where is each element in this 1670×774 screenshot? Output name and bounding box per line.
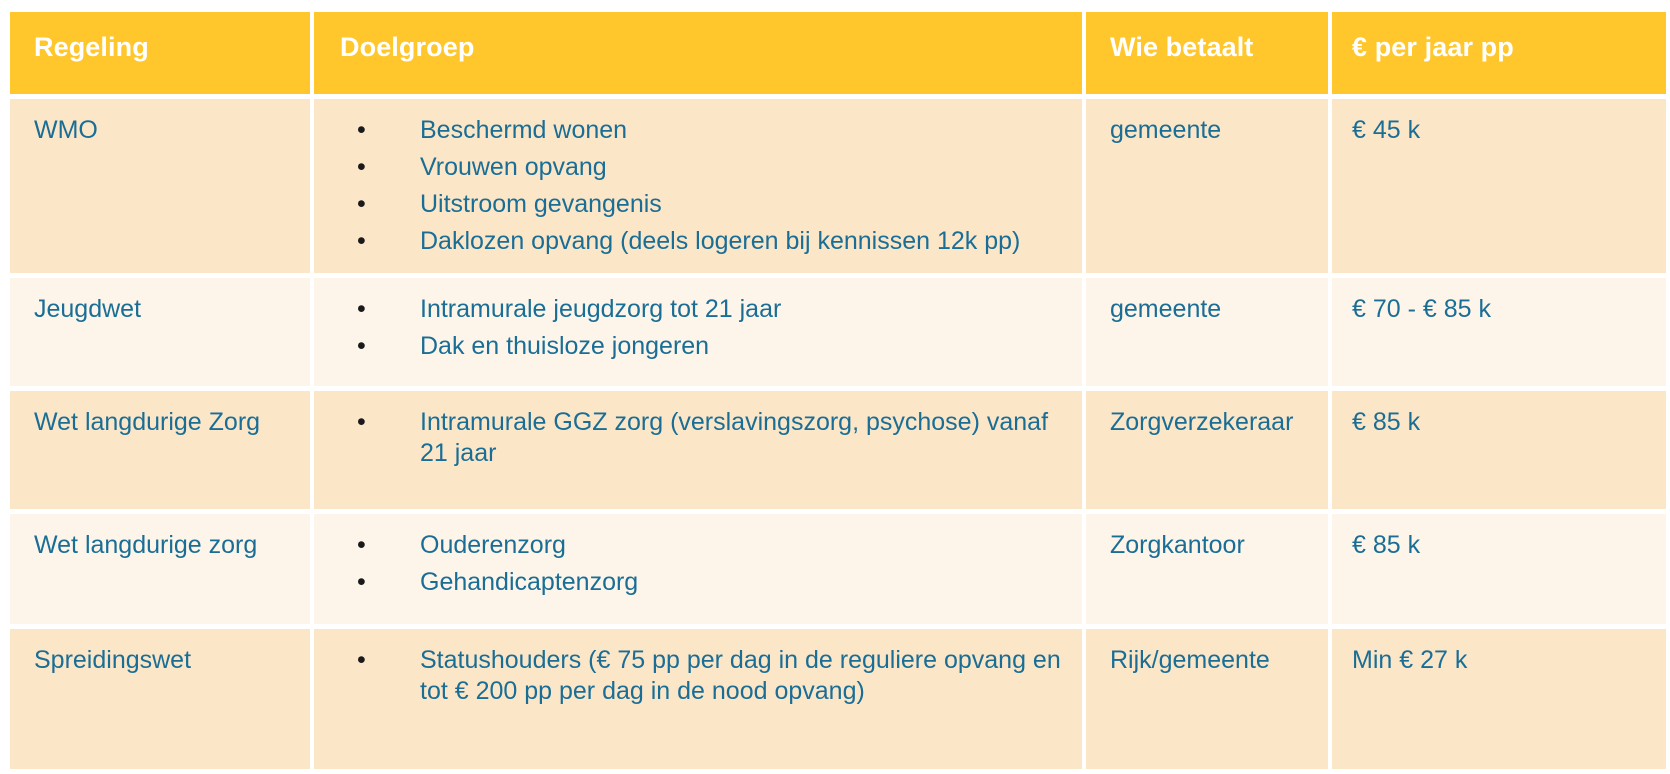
cell-regeling: Jeugdwet bbox=[10, 278, 310, 386]
table-row: Spreidingswet •Statushouders (€ 75 pp pe… bbox=[10, 629, 1666, 769]
regeling-label: WMO bbox=[34, 115, 300, 146]
column-header-wie-betaalt: Wie betaalt bbox=[1086, 12, 1328, 94]
cell-regeling: Wet langdurige Zorg bbox=[10, 391, 310, 509]
doelgroep-list: •Statushouders (€ 75 pp per dag in de re… bbox=[340, 645, 1068, 707]
regelingen-table: Regeling Doelgroep Wie betaalt € per jaa… bbox=[6, 7, 1670, 774]
table-body: WMO •Beschermd wonen •Vrouwen opvang •Ui… bbox=[10, 99, 1666, 769]
regeling-label: Spreidingswet bbox=[34, 645, 300, 676]
bullet-icon: • bbox=[357, 331, 366, 362]
wie-betaalt-label: gemeente bbox=[1110, 115, 1318, 146]
column-header-bedrag: € per jaar pp bbox=[1332, 12, 1666, 94]
column-header-doelgroep: Doelgroep bbox=[314, 12, 1082, 94]
list-item: •Dak en thuisloze jongeren bbox=[340, 331, 1068, 362]
list-item-label: Intramurale GGZ zorg (verslavingszorg, p… bbox=[420, 408, 1048, 467]
bullet-icon: • bbox=[357, 115, 366, 146]
cell-bedrag: € 85 k bbox=[1332, 514, 1666, 624]
list-item: •Intramurale jeugdzorg tot 21 jaar bbox=[340, 294, 1068, 325]
list-item-label: Dak en thuisloze jongeren bbox=[420, 332, 709, 360]
list-item-label: Ouderenzorg bbox=[420, 531, 566, 559]
doelgroep-list: •Intramurale GGZ zorg (verslavingszorg, … bbox=[340, 407, 1068, 469]
bullet-icon: • bbox=[357, 645, 366, 676]
doelgroep-list: •Beschermd wonen •Vrouwen opvang •Uitstr… bbox=[340, 115, 1068, 257]
cell-wie-betaalt: Rijk/gemeente bbox=[1086, 629, 1328, 769]
list-item-label: Statushouders (€ 75 pp per dag in de reg… bbox=[420, 646, 1061, 705]
list-item-label: Vrouwen opvang bbox=[420, 153, 607, 181]
list-item: •Beschermd wonen bbox=[340, 115, 1068, 146]
wie-betaalt-label: gemeente bbox=[1110, 294, 1318, 325]
bullet-icon: • bbox=[357, 152, 366, 183]
list-item: •Intramurale GGZ zorg (verslavingszorg, … bbox=[340, 407, 1068, 469]
list-item-label: Intramurale jeugdzorg tot 21 jaar bbox=[420, 295, 781, 323]
list-item: •Uitstroom gevangenis bbox=[340, 189, 1068, 220]
cell-wie-betaalt: Zorgverzekeraar bbox=[1086, 391, 1328, 509]
header-row: Regeling Doelgroep Wie betaalt € per jaa… bbox=[10, 12, 1666, 94]
table-header: Regeling Doelgroep Wie betaalt € per jaa… bbox=[10, 12, 1666, 94]
bullet-icon: • bbox=[357, 407, 366, 438]
table-row: WMO •Beschermd wonen •Vrouwen opvang •Ui… bbox=[10, 99, 1666, 273]
cell-wie-betaalt: gemeente bbox=[1086, 99, 1328, 273]
list-item: •Vrouwen opvang bbox=[340, 152, 1068, 183]
cell-doelgroep: •Intramurale jeugdzorg tot 21 jaar •Dak … bbox=[314, 278, 1082, 386]
bedrag-label: € 45 k bbox=[1352, 115, 1656, 146]
bullet-icon: • bbox=[357, 189, 366, 220]
cell-doelgroep: •Statushouders (€ 75 pp per dag in de re… bbox=[314, 629, 1082, 769]
list-item: •Statushouders (€ 75 pp per dag in de re… bbox=[340, 645, 1068, 707]
cell-bedrag: € 70 - € 85 k bbox=[1332, 278, 1666, 386]
bedrag-label: € 85 k bbox=[1352, 407, 1656, 438]
doelgroep-list: •Intramurale jeugdzorg tot 21 jaar •Dak … bbox=[340, 294, 1068, 362]
bullet-icon: • bbox=[357, 226, 366, 257]
bullet-icon: • bbox=[357, 530, 366, 561]
doelgroep-list: •Ouderenzorg •Gehandicaptenzorg bbox=[340, 530, 1068, 598]
wie-betaalt-label: Zorgverzekeraar bbox=[1110, 407, 1318, 438]
table-container: Regeling Doelgroep Wie betaalt € per jaa… bbox=[0, 0, 1670, 754]
table-row: Jeugdwet •Intramurale jeugdzorg tot 21 j… bbox=[10, 278, 1666, 386]
cell-regeling: Wet langdurige zorg bbox=[10, 514, 310, 624]
list-item-label: Daklozen opvang (deels logeren bij kenni… bbox=[420, 227, 1020, 255]
cell-doelgroep: •Ouderenzorg •Gehandicaptenzorg bbox=[314, 514, 1082, 624]
bedrag-label: Min € 27 k bbox=[1352, 645, 1656, 676]
cell-doelgroep: •Intramurale GGZ zorg (verslavingszorg, … bbox=[314, 391, 1082, 509]
table-row: Wet langdurige zorg •Ouderenzorg •Gehand… bbox=[10, 514, 1666, 624]
column-header-regeling: Regeling bbox=[10, 12, 310, 94]
list-item-label: Gehandicaptenzorg bbox=[420, 568, 638, 596]
cell-wie-betaalt: Zorgkantoor bbox=[1086, 514, 1328, 624]
regeling-label: Jeugdwet bbox=[34, 294, 300, 325]
list-item: •Daklozen opvang (deels logeren bij kenn… bbox=[340, 226, 1068, 257]
bullet-icon: • bbox=[357, 567, 366, 598]
cell-bedrag: € 45 k bbox=[1332, 99, 1666, 273]
wie-betaalt-label: Rijk/gemeente bbox=[1110, 645, 1318, 676]
bedrag-label: € 70 - € 85 k bbox=[1352, 294, 1656, 325]
bedrag-label: € 85 k bbox=[1352, 530, 1656, 561]
wie-betaalt-label: Zorgkantoor bbox=[1110, 530, 1318, 561]
cell-doelgroep: •Beschermd wonen •Vrouwen opvang •Uitstr… bbox=[314, 99, 1082, 273]
list-item-label: Uitstroom gevangenis bbox=[420, 190, 662, 218]
table-row: Wet langdurige Zorg •Intramurale GGZ zor… bbox=[10, 391, 1666, 509]
cell-regeling: Spreidingswet bbox=[10, 629, 310, 769]
list-item: •Gehandicaptenzorg bbox=[340, 567, 1068, 598]
list-item-label: Beschermd wonen bbox=[420, 116, 627, 144]
cell-regeling: WMO bbox=[10, 99, 310, 273]
bullet-icon: • bbox=[357, 294, 366, 325]
regeling-label: Wet langdurige zorg bbox=[34, 530, 300, 561]
list-item: •Ouderenzorg bbox=[340, 530, 1068, 561]
cell-bedrag: € 85 k bbox=[1332, 391, 1666, 509]
cell-wie-betaalt: gemeente bbox=[1086, 278, 1328, 386]
regeling-label: Wet langdurige Zorg bbox=[34, 407, 300, 438]
cell-bedrag: Min € 27 k bbox=[1332, 629, 1666, 769]
